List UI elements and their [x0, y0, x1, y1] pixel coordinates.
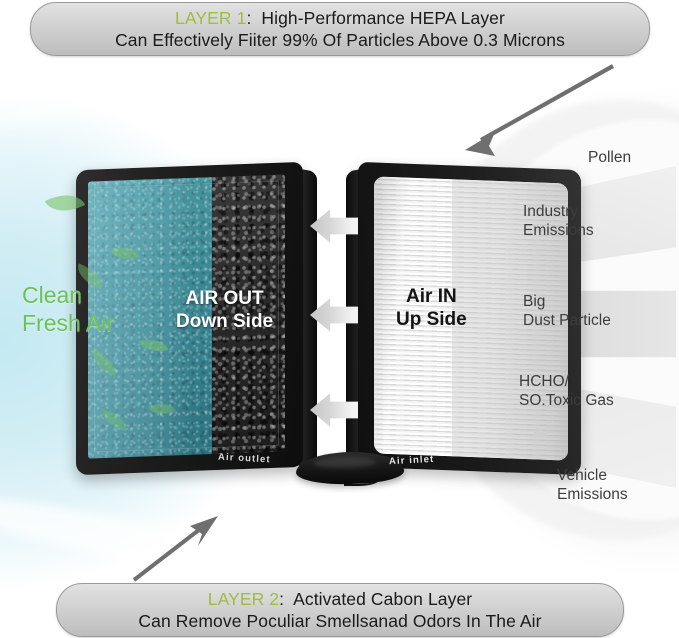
pollutant-label-big-dust-particle: Big Dust Particle — [523, 292, 611, 330]
pointer-arrow-top-icon — [455, 58, 620, 158]
layer-1-separator: : — [246, 8, 251, 28]
layer-2-separator: : — [279, 589, 284, 609]
air-in-label: Air IN Up Side — [396, 285, 467, 331]
layer-1-title-line: LAYER 1: High-Performance HEPA Layer — [175, 7, 505, 29]
clean-fresh-air-label: Clean Fresh Air — [22, 281, 114, 337]
pollutant-label-vehicle-emissions: Vehicle Emissions — [557, 466, 628, 504]
air-out-label: AIR OUT Down Side — [176, 287, 273, 333]
layer-2-title-line: LAYER 2: Activated Cabon Layer — [208, 588, 472, 610]
inlet-direction-arrow-icon — [537, 427, 548, 437]
layer-1-subtitle: Can Effectively Fiiter 99% Of Particles … — [115, 29, 565, 51]
layer-1-title: High-Performance HEPA Layer — [261, 8, 505, 28]
layer-2-subtitle: Can Remove Poculiar Smellsanad Odors In … — [138, 610, 541, 632]
layer-1-banner: LAYER 1: High-Performance HEPA Layer Can… — [30, 2, 650, 56]
layer-2-tag: LAYER 2 — [208, 589, 279, 609]
pollutant-label-hcho-toxic-gas: HCHO/ SO.Toxic Gas — [519, 372, 614, 410]
pollutant-label-industry-emissions: Industry Emissions — [523, 202, 594, 240]
diagram-canvas: AIR OUT Down Side Air IN Up Side Clean F… — [0, 0, 679, 638]
layer-2-banner: LAYER 2: Activated Cabon Layer Can Remov… — [56, 583, 624, 637]
layer-2-title: Activated Cabon Layer — [293, 589, 472, 609]
pointer-arrow-bottom-icon — [128, 498, 238, 588]
pollutant-label-pollen: Pollen — [588, 148, 631, 167]
hinge-highlight — [314, 457, 376, 469]
layer-1-tag: LAYER 1 — [175, 8, 246, 28]
